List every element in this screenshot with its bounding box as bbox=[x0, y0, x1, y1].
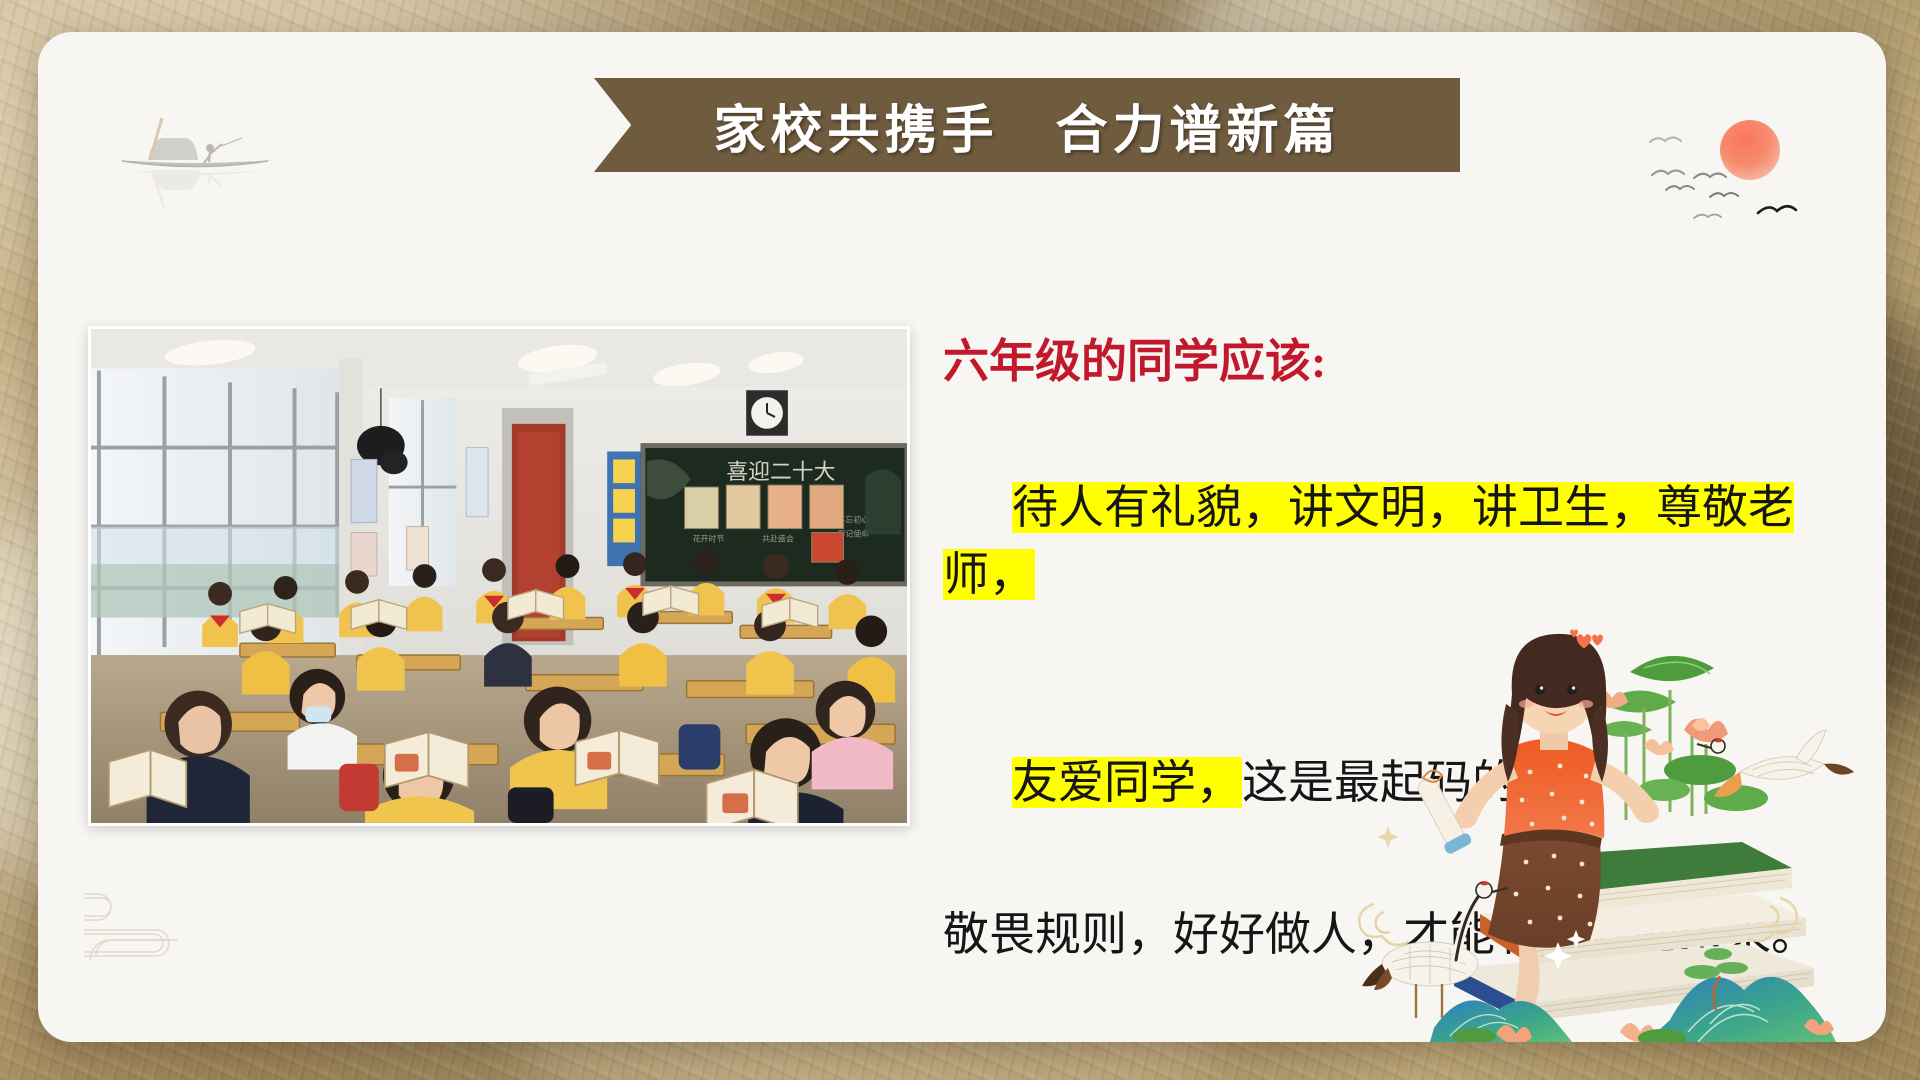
flying-birds-icon bbox=[1650, 138, 1796, 219]
slide-card: 家校共携手 合力谱新篇 bbox=[38, 32, 1886, 1042]
page-title: 家校共携手 合力谱新篇 bbox=[713, 88, 1340, 163]
girl-on-books-illustration bbox=[1344, 612, 1864, 1042]
text-heading: 六年级的同学应该: bbox=[943, 328, 1863, 395]
title-ribbon: 家校共携手 合力谱新篇 bbox=[594, 78, 1460, 172]
highlighted-text-2: 友爱同学， bbox=[1012, 757, 1242, 808]
classroom-photo: 喜迎二十大 花开时节共赴盛会 不忘初心牢记使命 bbox=[88, 326, 910, 826]
ink-boat-icon bbox=[110, 108, 280, 218]
red-sun-icon bbox=[1720, 120, 1780, 180]
highlighted-text-1: 待人有礼貌，讲文明，讲卫生，尊敬老师， bbox=[943, 482, 1794, 600]
cloud-wave-lines-icon bbox=[84, 864, 304, 984]
sun-and-birds-decoration bbox=[1598, 90, 1848, 230]
